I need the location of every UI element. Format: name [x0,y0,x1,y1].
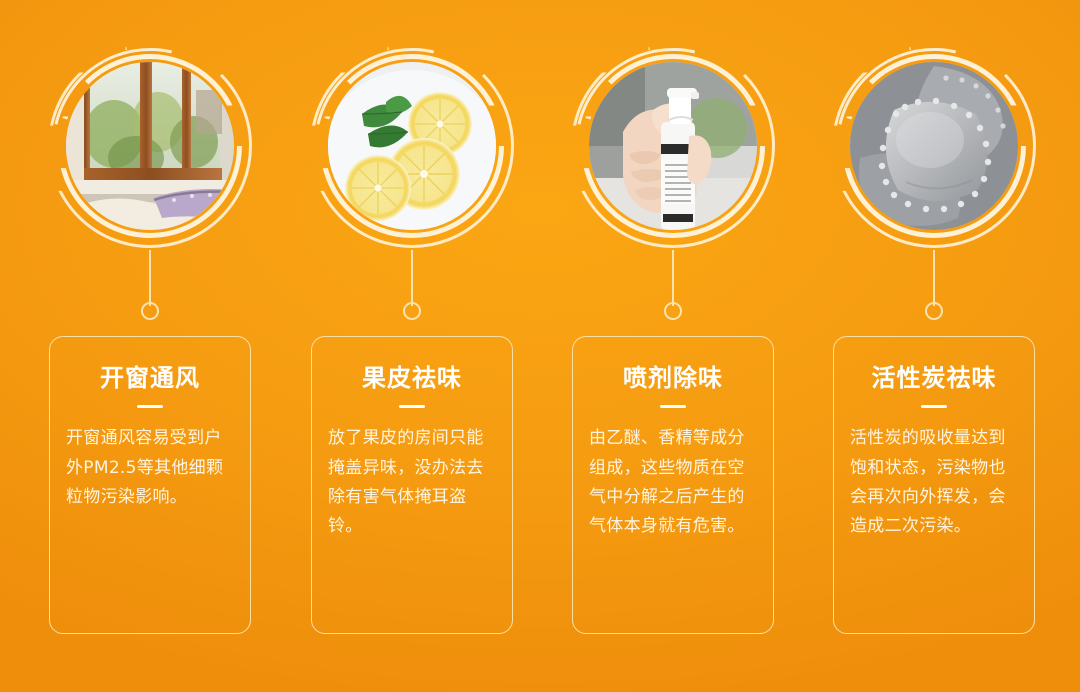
method-card-4: 活性炭祛味 活性炭的吸收量达到饱和状态，污染物也会再次向外挥发，会造成二次污染。 [833,336,1035,634]
circle-media-2 [310,44,514,248]
accent-arc-decor-1 [15,11,285,281]
method-column-1: 开窗通风 开窗通风容易受到户外PM2.5等其他细颗粒物污染影响。 [19,0,281,692]
card-body: 活性炭的吸收量达到饱和状态，污染物也会再次向外挥发，会造成二次污染。 [848,424,1020,541]
card-body: 开窗通风容易受到户外PM2.5等其他细颗粒物污染影响。 [64,424,236,512]
connector-line-1 [149,250,151,306]
card-body: 放了果皮的房间只能掩盖异味，没办法去除有害气体掩耳盗铃。 [326,424,498,541]
connector-dot-3 [664,302,682,320]
accent-arc-decor-4 [799,11,1069,281]
card-title: 活性炭祛味 [848,365,1020,391]
method-card-1: 开窗通风 开窗通风容易受到户外PM2.5等其他细颗粒物污染影响。 [49,336,251,634]
method-card-2: 果皮祛味 放了果皮的房间只能掩盖异味，没办法去除有害气体掩耳盗铃。 [311,336,513,634]
connector-line-2 [411,250,413,306]
title-divider [660,405,686,408]
connector-dot-1 [141,302,159,320]
method-card-3: 喷剂除味 由乙醚、香精等成分组成，这些物质在空气中分解之后产生的气体本身就有危害… [572,336,774,634]
connector-line-3 [672,250,674,306]
circle-media-1 [48,44,252,248]
circle-media-4 [832,44,1036,248]
card-body: 由乙醚、香精等成分组成，这些物质在空气中分解之后产生的气体本身就有危害。 [587,424,759,541]
circle-media-3 [571,44,775,248]
card-title: 开窗通风 [64,365,236,391]
title-divider [137,405,163,408]
accent-arc-decor-2 [277,11,547,281]
method-column-2: 果皮祛味 放了果皮的房间只能掩盖异味，没办法去除有害气体掩耳盗铃。 [281,0,543,692]
title-divider [921,405,947,408]
connector-line-4 [933,250,935,306]
method-column-4: 活性炭祛味 活性炭的吸收量达到饱和状态，污染物也会再次向外挥发，会造成二次污染。 [803,0,1065,692]
title-divider [399,405,425,408]
connector-dot-2 [403,302,421,320]
method-column-3: 喷剂除味 由乙醚、香精等成分组成，这些物质在空气中分解之后产生的气体本身就有危害… [542,0,804,692]
accent-arc-decor-3 [538,11,808,281]
infographic-stage: 开窗通风 开窗通风容易受到户外PM2.5等其他细颗粒物污染影响。 [0,0,1080,692]
card-title: 果皮祛味 [326,365,498,391]
connector-dot-4 [925,302,943,320]
card-title: 喷剂除味 [587,365,759,391]
